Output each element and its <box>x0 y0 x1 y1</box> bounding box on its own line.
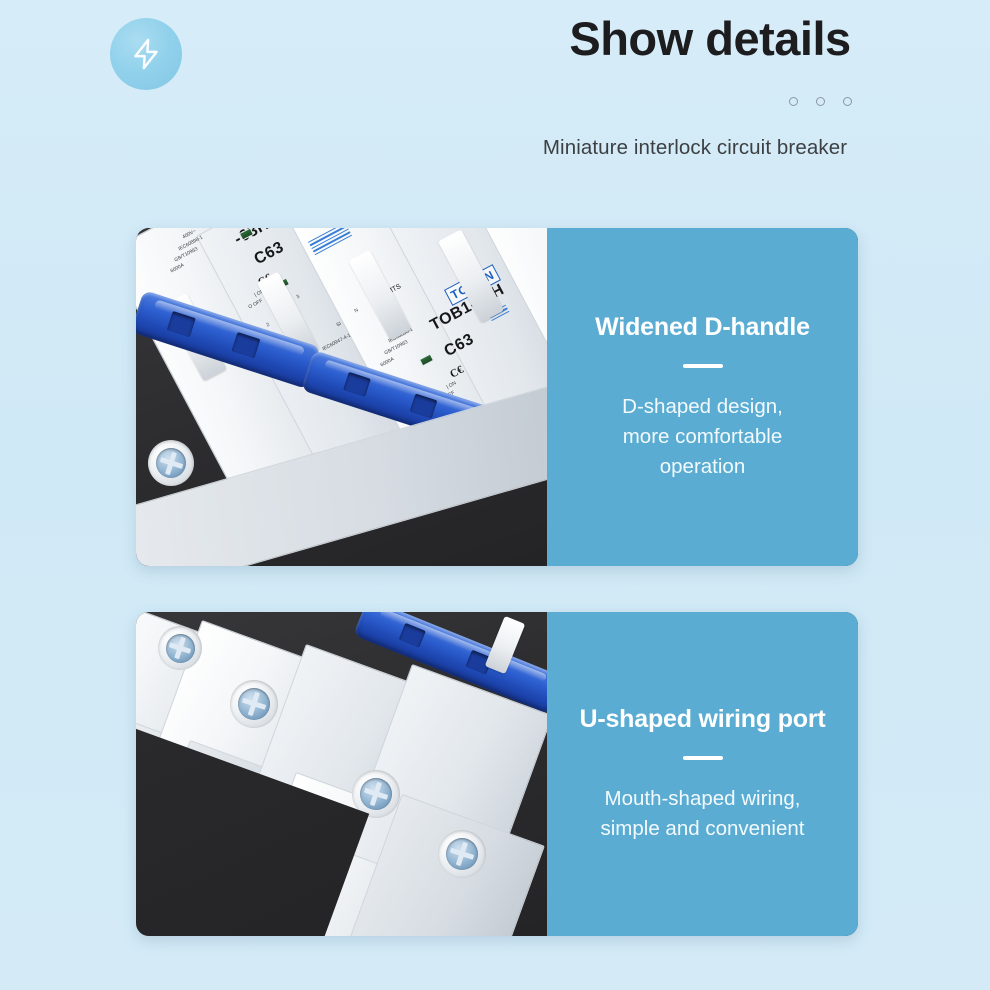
feature-description-line: Mouth-shaped wiring, <box>601 784 805 814</box>
screw-terminal <box>158 626 202 670</box>
page-header: Show details Miniature interlock circuit… <box>0 0 990 195</box>
feature-card-u-shaped-wiring-port: U-shaped wiring port Mouth-shaped wiring… <box>136 612 858 936</box>
feature-card-widened-d-handle: -63H 400V~ IEC60898-1 GB/T10963 6000A C6… <box>136 228 858 566</box>
feature-description-line: operation <box>622 452 783 482</box>
feature-text-panel: U-shaped wiring port Mouth-shaped wiring… <box>547 612 858 936</box>
page-subtitle: Miniature interlock circuit breaker <box>480 136 910 160</box>
lightning-bolt-badge <box>110 18 182 90</box>
title-divider <box>683 364 723 368</box>
feature-description-line: simple and convenient <box>601 814 805 844</box>
breaker-bank-illustration: -63H 400V~ IEC60898-1 GB/T10963 6000A C6… <box>136 228 547 566</box>
feature-title: U-shaped wiring port <box>579 704 825 734</box>
feature-title: Widened D-handle <box>595 312 810 342</box>
product-photo-d-handle: -63H 400V~ IEC60898-1 GB/T10963 6000A C6… <box>136 228 547 566</box>
product-detail-page: Show details Miniature interlock circuit… <box>0 0 990 990</box>
carousel-dot-2[interactable] <box>816 97 825 106</box>
feature-description: Mouth-shaped wiring, simple and convenie… <box>601 784 805 843</box>
screw-terminal <box>148 440 194 486</box>
screw-terminal <box>438 830 486 878</box>
feature-text-panel: Widened D-handle D-shaped design, more c… <box>547 228 858 566</box>
page-title: Show details <box>550 12 870 66</box>
carousel-dot-1[interactable] <box>789 97 798 106</box>
carousel-dots[interactable] <box>770 97 870 106</box>
feature-description-line: more comfortable <box>622 422 783 452</box>
breaker-terminal-illustration <box>136 612 547 936</box>
product-photo-wiring-port <box>136 612 547 936</box>
feature-description: D-shaped design, more comfortable operat… <box>622 392 783 481</box>
lightning-bolt-icon <box>129 37 163 71</box>
title-divider <box>683 756 723 760</box>
feature-description-line: D-shaped design, <box>622 392 783 422</box>
screw-terminal <box>230 680 278 728</box>
carousel-dot-3[interactable] <box>843 97 852 106</box>
